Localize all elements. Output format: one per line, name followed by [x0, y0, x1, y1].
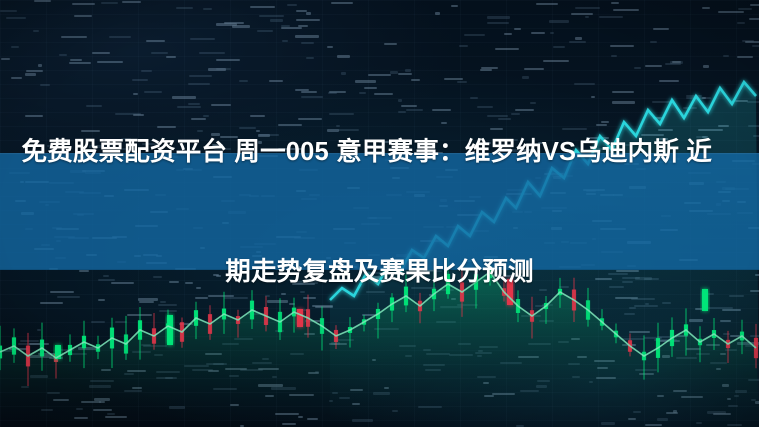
- title-block: 免费股票配资平台 周一005 意甲赛事：维罗纳VS乌迪内斯 近 期走势复盘及赛果…: [18, 52, 742, 372]
- page-title-line-1: 免费股票配资平台 周一005 意甲赛事：维罗纳VS乌迪内斯 近: [18, 132, 742, 172]
- page-title-line-2: 期走势复盘及赛果比分预测: [18, 252, 742, 292]
- title-banner: 免费股票配资平台 周一005 意甲赛事：维罗纳VS乌迪内斯 近 期走势复盘及赛果…: [0, 153, 759, 270]
- banner-image: 免费股票配资平台 周一005 意甲赛事：维罗纳VS乌迪内斯 近 期走势复盘及赛果…: [0, 0, 759, 427]
